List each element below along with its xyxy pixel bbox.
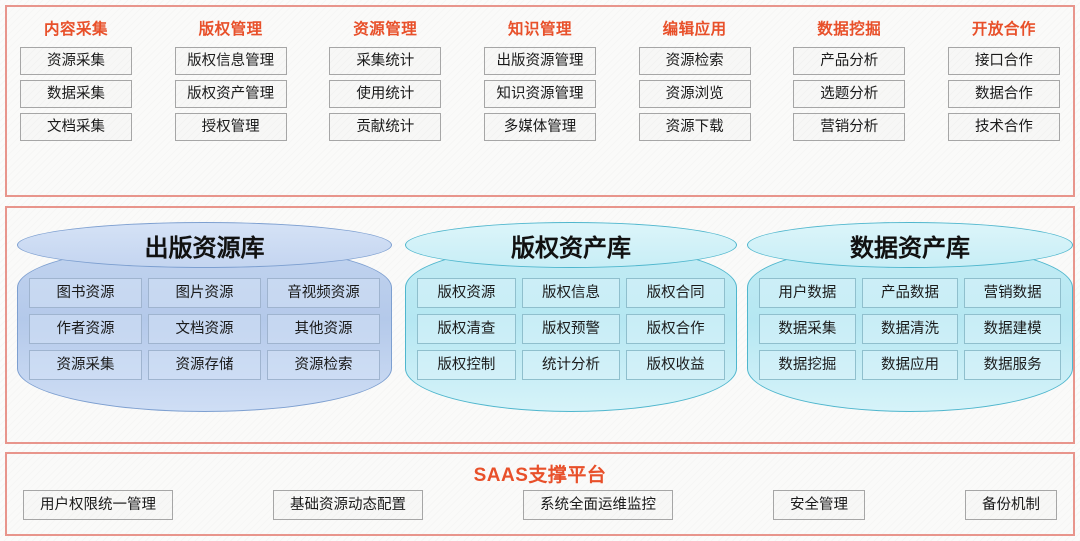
application-group: 版权管理版权信息管理版权资产管理授权管理 (175, 17, 287, 195)
application-item-button[interactable]: 文档采集 (20, 113, 132, 141)
repository-item-button[interactable]: 资源存储 (148, 350, 261, 380)
application-item-button[interactable]: 资源检索 (639, 47, 751, 75)
application-group-title: 版权管理 (199, 17, 263, 39)
repository-item-row: 版权资源版权信息版权合同 (417, 278, 725, 308)
repository-layer-panel: 出版资源库图书资源图片资源音视频资源作者资源文档资源其他资源资源采集资源存储资源… (5, 206, 1075, 444)
repository-item-button[interactable]: 版权收益 (626, 350, 725, 380)
repository-item-button[interactable]: 版权预警 (522, 314, 621, 344)
repository-item-grid: 用户数据产品数据营销数据数据采集数据清洗数据建模数据挖掘数据应用数据服务 (747, 278, 1073, 386)
repository-item-button[interactable]: 版权控制 (417, 350, 516, 380)
application-group: 数据挖掘产品分析选题分析营销分析 (793, 17, 905, 195)
repository-item-button[interactable]: 文档资源 (148, 314, 261, 344)
repository-item-grid: 版权资源版权信息版权合同版权清查版权预警版权合作版权控制统计分析版权收益 (405, 278, 737, 386)
application-layer-panel: 内容采集资源采集数据采集文档采集版权管理版权信息管理版权资产管理授权管理资源管理… (5, 5, 1075, 197)
repository-item-button[interactable]: 图书资源 (29, 278, 142, 308)
application-group: 知识管理出版资源管理知识资源管理多媒体管理 (484, 17, 596, 195)
application-item-button[interactable]: 贡献统计 (329, 113, 441, 141)
repository-item-row: 数据挖掘数据应用数据服务 (759, 350, 1061, 380)
application-item-button[interactable]: 版权信息管理 (175, 47, 287, 75)
application-item-button[interactable]: 接口合作 (948, 47, 1060, 75)
application-group-title: 数据挖掘 (817, 17, 881, 39)
repository-item-row: 用户数据产品数据营销数据 (759, 278, 1061, 308)
repository-item-button[interactable]: 作者资源 (29, 314, 142, 344)
repository-item-row: 版权清查版权预警版权合作 (417, 314, 725, 344)
application-item-button[interactable]: 资源下载 (639, 113, 751, 141)
application-item-button[interactable]: 出版资源管理 (484, 47, 596, 75)
repository-item-button[interactable]: 版权资源 (417, 278, 516, 308)
repository-item-button[interactable]: 营销数据 (964, 278, 1061, 308)
repository-item-button[interactable]: 版权合作 (626, 314, 725, 344)
repository-title: 版权资产库 (405, 228, 737, 263)
application-group: 内容采集资源采集数据采集文档采集 (20, 17, 132, 195)
application-group: 编辑应用资源检索资源浏览资源下载 (639, 17, 751, 195)
application-item-button[interactable]: 数据合作 (948, 80, 1060, 108)
repository-item-button[interactable]: 用户数据 (759, 278, 856, 308)
repository-item-button[interactable]: 数据采集 (759, 314, 856, 344)
application-item-button[interactable]: 使用统计 (329, 80, 441, 108)
application-group: 资源管理采集统计使用统计贡献统计 (329, 17, 441, 195)
repository-item-button[interactable]: 资源采集 (29, 350, 142, 380)
platform-capability-button[interactable]: 备份机制 (965, 490, 1057, 520)
platform-title: SAAS支撑平台 (7, 460, 1073, 487)
repository-item-button[interactable]: 数据清洗 (862, 314, 959, 344)
application-item-button[interactable]: 资源浏览 (639, 80, 751, 108)
application-group-title: 知识管理 (508, 17, 572, 39)
application-item-button[interactable]: 多媒体管理 (484, 113, 596, 141)
repository-item-button[interactable]: 音视频资源 (267, 278, 380, 308)
repository-item-row: 数据采集数据清洗数据建模 (759, 314, 1061, 344)
application-item-button[interactable]: 资源采集 (20, 47, 132, 75)
application-group: 开放合作接口合作数据合作技术合作 (948, 17, 1060, 195)
repository-item-row: 作者资源文档资源其他资源 (29, 314, 380, 344)
application-group-title: 资源管理 (353, 17, 417, 39)
application-group-title: 内容采集 (44, 17, 108, 39)
repository-item-button[interactable]: 产品数据 (862, 278, 959, 308)
platform-capability-button[interactable]: 基础资源动态配置 (273, 490, 423, 520)
platform-capability-list: 用户权限统一管理基础资源动态配置系统全面运维监控安全管理备份机制 (7, 490, 1073, 520)
repository-cylinder: 出版资源库图书资源图片资源音视频资源作者资源文档资源其他资源资源采集资源存储资源… (17, 222, 392, 428)
platform-layer-panel: SAAS支撑平台 用户权限统一管理基础资源动态配置系统全面运维监控安全管理备份机… (5, 452, 1075, 536)
platform-capability-button[interactable]: 用户权限统一管理 (23, 490, 173, 520)
application-item-button[interactable]: 版权资产管理 (175, 80, 287, 108)
platform-capability-button[interactable]: 安全管理 (773, 490, 865, 520)
application-item-button[interactable]: 知识资源管理 (484, 80, 596, 108)
repository-item-button[interactable]: 统计分析 (522, 350, 621, 380)
application-item-button[interactable]: 数据采集 (20, 80, 132, 108)
application-group-list: 内容采集资源采集数据采集文档采集版权管理版权信息管理版权资产管理授权管理资源管理… (7, 7, 1073, 195)
application-item-button[interactable]: 产品分析 (793, 47, 905, 75)
platform-capability-button[interactable]: 系统全面运维监控 (523, 490, 673, 520)
repository-item-button[interactable]: 数据服务 (964, 350, 1061, 380)
repository-item-row: 资源采集资源存储资源检索 (29, 350, 380, 380)
repository-item-button[interactable]: 版权信息 (522, 278, 621, 308)
repository-title: 出版资源库 (17, 228, 392, 263)
application-item-button[interactable]: 营销分析 (793, 113, 905, 141)
repository-item-button[interactable]: 数据挖掘 (759, 350, 856, 380)
application-item-button[interactable]: 授权管理 (175, 113, 287, 141)
repository-list: 出版资源库图书资源图片资源音视频资源作者资源文档资源其他资源资源采集资源存储资源… (7, 208, 1073, 442)
repository-cylinder: 数据资产库用户数据产品数据营销数据数据采集数据清洗数据建模数据挖掘数据应用数据服… (747, 222, 1073, 428)
repository-cylinder: 版权资产库版权资源版权信息版权合同版权清查版权预警版权合作版权控制统计分析版权收… (405, 222, 737, 428)
repository-item-button[interactable]: 其他资源 (267, 314, 380, 344)
repository-item-row: 版权控制统计分析版权收益 (417, 350, 725, 380)
repository-item-button[interactable]: 数据建模 (964, 314, 1061, 344)
repository-item-row: 图书资源图片资源音视频资源 (29, 278, 380, 308)
application-item-button[interactable]: 采集统计 (329, 47, 441, 75)
repository-item-button[interactable]: 资源检索 (267, 350, 380, 380)
repository-item-button[interactable]: 数据应用 (862, 350, 959, 380)
repository-item-button[interactable]: 版权清查 (417, 314, 516, 344)
repository-item-grid: 图书资源图片资源音视频资源作者资源文档资源其他资源资源采集资源存储资源检索 (17, 278, 392, 386)
repository-item-button[interactable]: 图片资源 (148, 278, 261, 308)
application-group-title: 开放合作 (972, 17, 1036, 39)
application-group-title: 编辑应用 (663, 17, 727, 39)
repository-title: 数据资产库 (747, 228, 1073, 263)
architecture-diagram: 内容采集资源采集数据采集文档采集版权管理版权信息管理版权资产管理授权管理资源管理… (0, 0, 1080, 541)
application-item-button[interactable]: 技术合作 (948, 113, 1060, 141)
application-item-button[interactable]: 选题分析 (793, 80, 905, 108)
repository-item-button[interactable]: 版权合同 (626, 278, 725, 308)
